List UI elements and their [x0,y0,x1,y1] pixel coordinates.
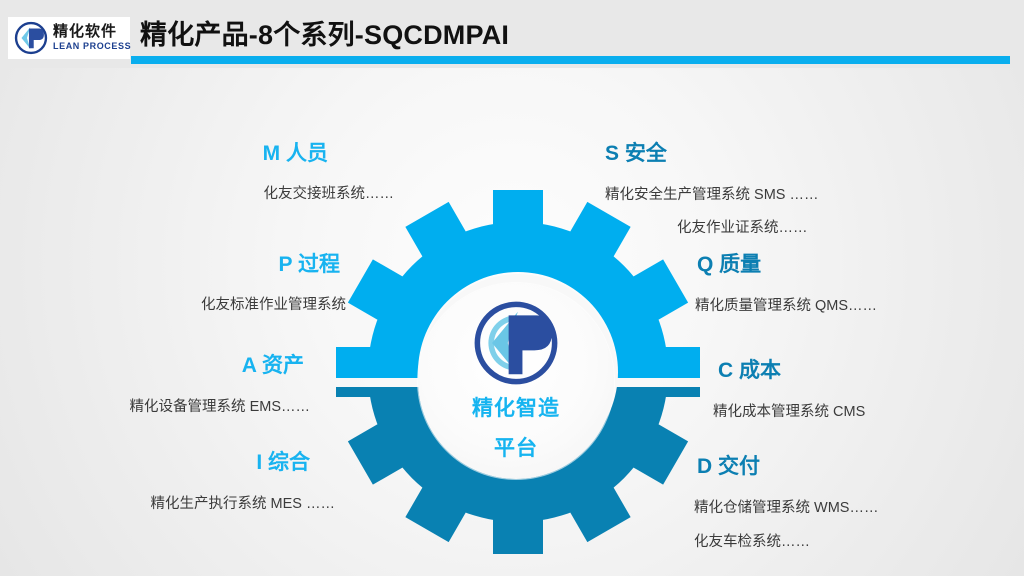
cluster-i-item-0: 精化生产执行系统 MES …… [0,497,335,512]
cluster-d-item-1: 化友车检系统…… [694,535,878,550]
cluster-s-heading: S 安全 [605,143,818,164]
cluster-d-heading: D 交付 [697,456,878,477]
cluster-i-integrated[interactable]: I 综合 精化生产执行系统 MES …… [0,452,335,512]
cluster-c-heading: C 成本 [718,360,865,381]
cluster-p-item-0: 化友标准作业管理系统 [0,298,346,313]
cluster-a-item-0: 精化设备管理系统 EMS…… [0,400,310,415]
lean-process-p-logo-icon [470,297,562,389]
cluster-m-heading: M 人员 [0,143,328,164]
cluster-m-people[interactable]: M 人员 化友交接班系统…… [0,143,410,202]
cluster-q-item-0: 精化质量管理系统 QMS…… [695,299,877,314]
page-title: 精化产品-8个系列-SQCDMPAI [140,13,509,52]
cluster-s-item-1: 化友作业证系统…… [677,221,818,236]
logo-english-name: LEAN PROCESS [53,42,131,51]
cluster-c-item-0: 精化成本管理系统 CMS [713,405,865,420]
title-underline-rule [131,56,1010,64]
cluster-m-item-0: 化友交接班系统…… [0,187,394,202]
platform-hub: 精化智造 平台 [418,283,614,479]
cluster-i-heading: I 综合 [0,452,310,473]
cluster-p-heading: P 过程 [0,254,340,275]
cluster-c-cost[interactable]: C 成本 精化成本管理系统 CMS [718,360,865,420]
lean-process-p-logo-icon [14,21,48,55]
cluster-d-delivery[interactable]: D 交付 精化仓储管理系统 WMS…… 化友车检系统…… [697,456,878,549]
logo-chinese-name: 精化软件 [53,25,131,40]
cluster-d-item-0: 精化仓储管理系统 WMS…… [694,501,878,516]
company-logo: 精化软件 LEAN PROCESS [8,17,130,59]
cluster-p-process[interactable]: P 过程 化友标准作业管理系统 [0,254,348,313]
cluster-s-safety[interactable]: S 安全 精化安全生产管理系统 SMS …… 化友作业证系统…… [605,143,818,235]
cluster-q-quality[interactable]: Q 质量 精化质量管理系统 QMS…… [697,254,877,314]
logo-wordmark: 精化软件 LEAN PROCESS [53,25,131,51]
cluster-a-asset[interactable]: A 资产 精化设备管理系统 EMS…… [0,355,310,415]
slide-header: 精化软件 LEAN PROCESS 精化产品-8个系列-SQCDMPAI [0,0,1024,68]
cluster-q-heading: Q 质量 [697,254,877,275]
hub-title-line-2: 平台 [494,432,538,462]
slide-canvas: 精化软件 LEAN PROCESS 精化产品-8个系列-SQCDMPAI [0,0,1024,576]
cluster-s-item-0: 精化安全生产管理系统 SMS …… [605,188,818,203]
cluster-a-heading: A 资产 [0,355,304,376]
hub-title-line-1: 精化智造 [472,392,560,422]
